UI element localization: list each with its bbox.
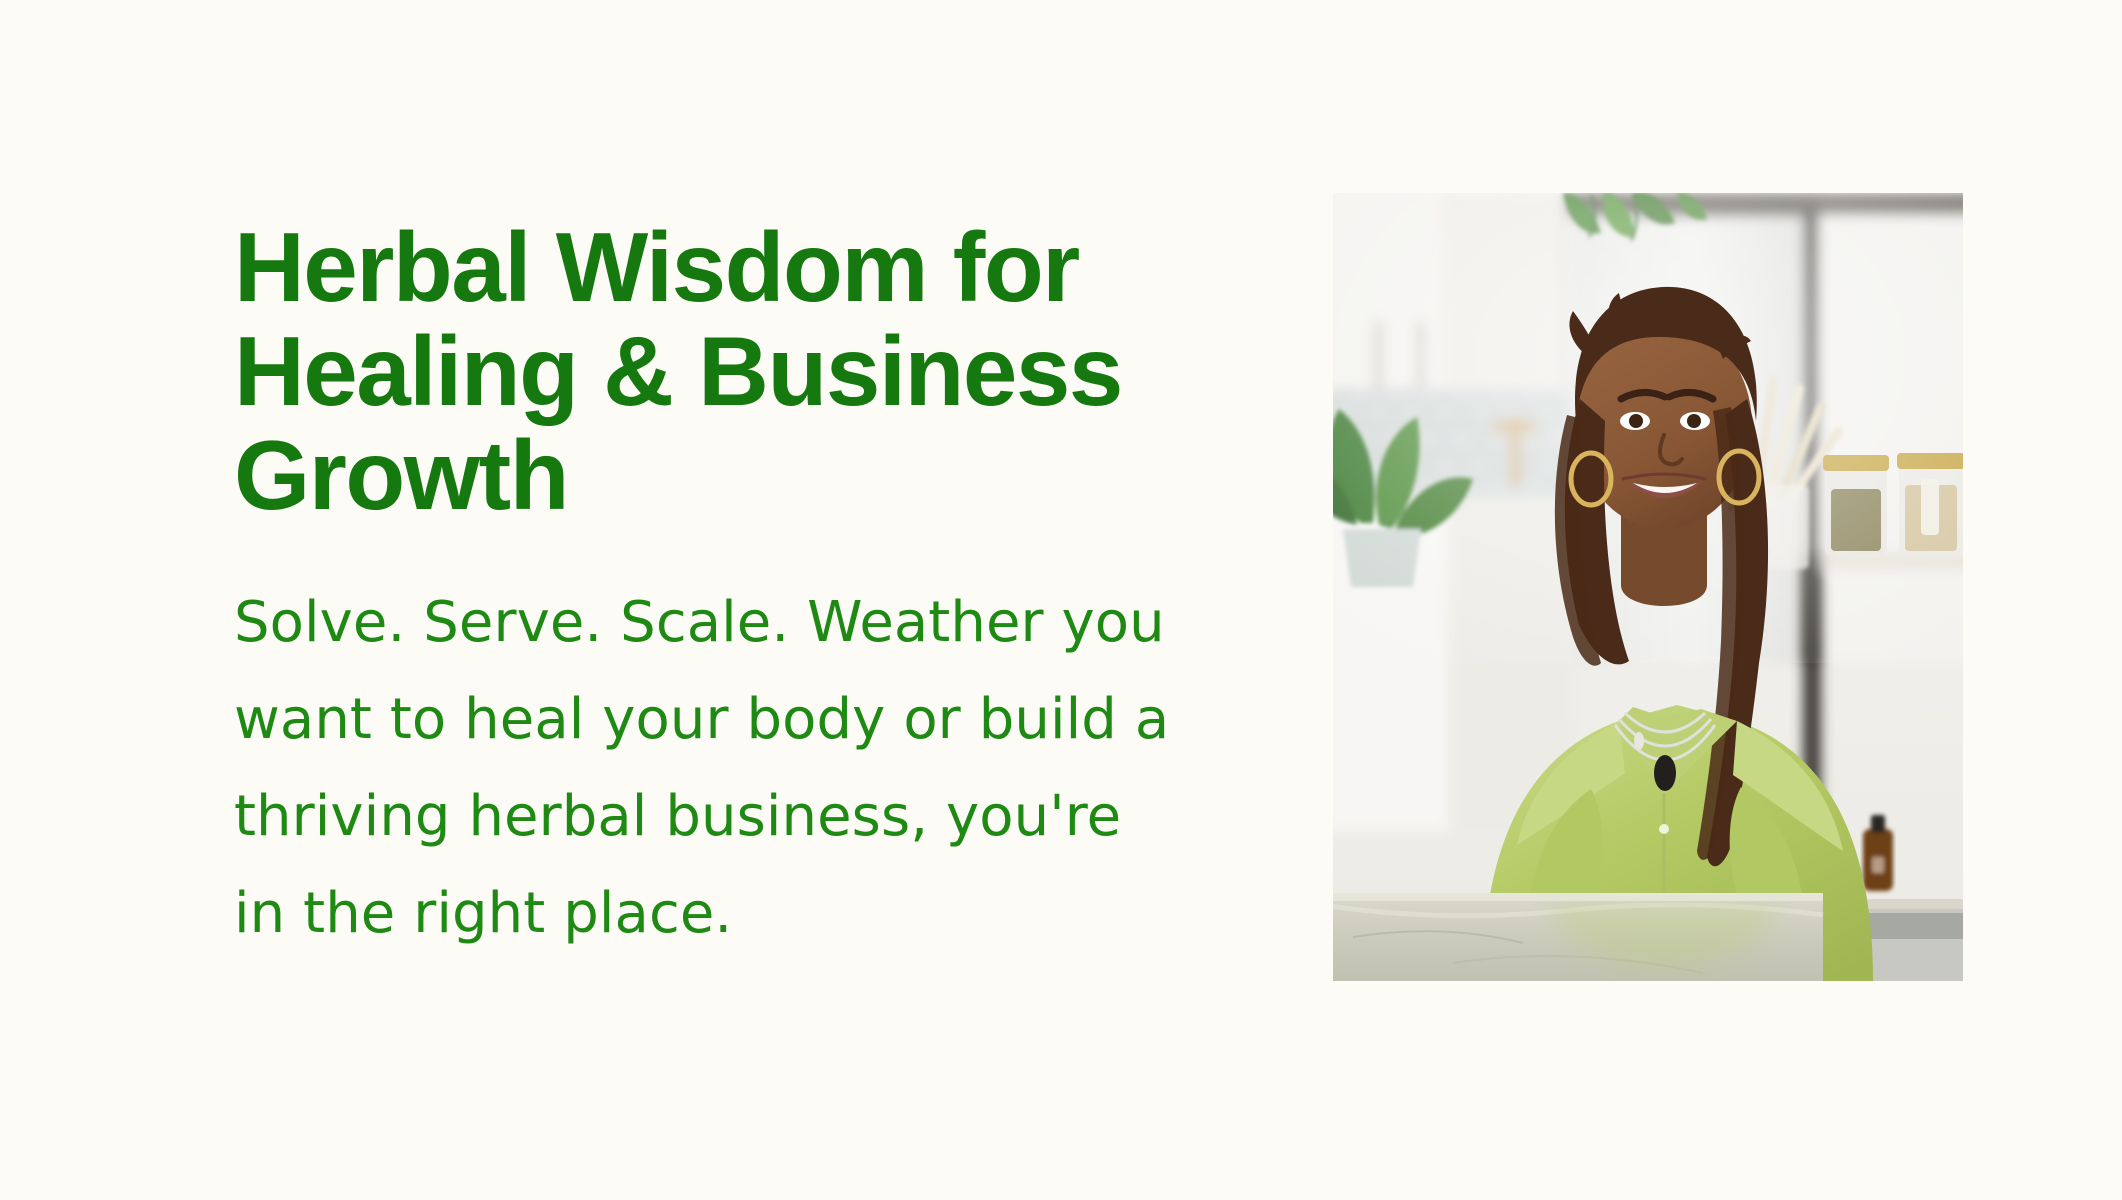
kitchen-portrait-illustration — [1333, 193, 1963, 981]
hero-subcopy: Solve. Serve. Scale. Weather you want to… — [234, 574, 1264, 962]
hero-image — [1333, 193, 1963, 981]
hero-text-column: Herbal Wisdom for Healing & Business Gro… — [234, 215, 1264, 962]
pendant-icon — [1654, 755, 1676, 791]
page-title: Herbal Wisdom for Healing & Business Gro… — [234, 215, 1264, 527]
marble-counter — [1333, 893, 1823, 981]
hero-section: Herbal Wisdom for Healing & Business Gro… — [0, 0, 2122, 1200]
